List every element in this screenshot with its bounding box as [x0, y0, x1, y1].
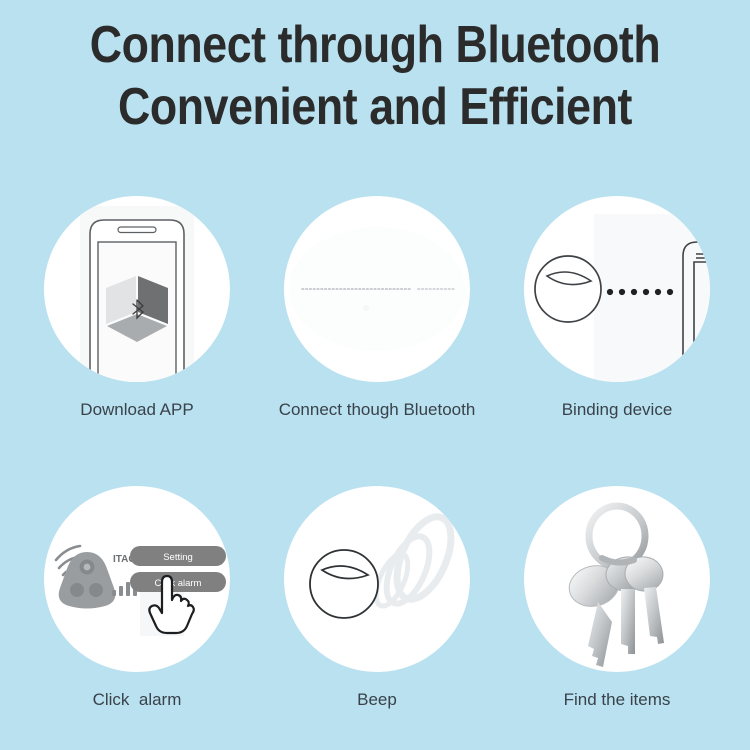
step-illustration-bubble — [524, 486, 710, 672]
step-label: Download APP — [17, 400, 257, 420]
step-label: Connect though Bluetooth — [257, 400, 497, 420]
tracker-tag-connecting-to-phone — [524, 196, 710, 382]
tracker-tag-emitting-sound-waves — [284, 486, 470, 672]
page-title: Connect through Bluetooth Convenient and… — [0, 14, 750, 138]
keys-icon — [524, 486, 710, 672]
step-label: Beep — [257, 690, 497, 710]
step-illustration-bubble — [524, 196, 710, 382]
app-buttons-with-pointing-hand: ITAG Setting Click alarm — [44, 486, 230, 672]
step-label: Click alarm — [17, 690, 257, 710]
page-title-line-2: Convenient and Efficient — [53, 76, 698, 138]
promo-infographic: Connect through Bluetooth Convenient and… — [0, 0, 750, 750]
tracker-tag-icon — [535, 256, 601, 322]
tracker-tag-icon — [310, 550, 378, 618]
sound-waves-icon — [370, 509, 462, 611]
phone-with-cube-app-icon — [44, 196, 230, 382]
step-illustration-bubble — [284, 196, 470, 382]
step-illustration-bubble: ITAG Setting Click alarm — [44, 486, 230, 672]
step-click-alarm[interactable]: ITAG Setting Click alarm — [17, 486, 257, 710]
page-title-line-1: Connect through Bluetooth — [53, 14, 698, 76]
step-illustration-bubble — [44, 196, 230, 382]
step-connect-bluetooth[interactable]: Connect though Bluetooth — [257, 196, 497, 420]
step-download-app[interactable]: Download APP — [17, 196, 257, 420]
step-find-items[interactable]: Find the items — [497, 486, 737, 710]
step-label: Find the items — [497, 690, 737, 710]
step-label: Binding device — [497, 400, 737, 420]
step-illustration-bubble — [284, 486, 470, 672]
step-binding-device[interactable]: Binding device — [497, 196, 737, 420]
step-beep[interactable]: Beep — [257, 486, 497, 710]
setting-button-label: Setting — [163, 552, 193, 563]
dotted-line-icon — [284, 196, 470, 382]
